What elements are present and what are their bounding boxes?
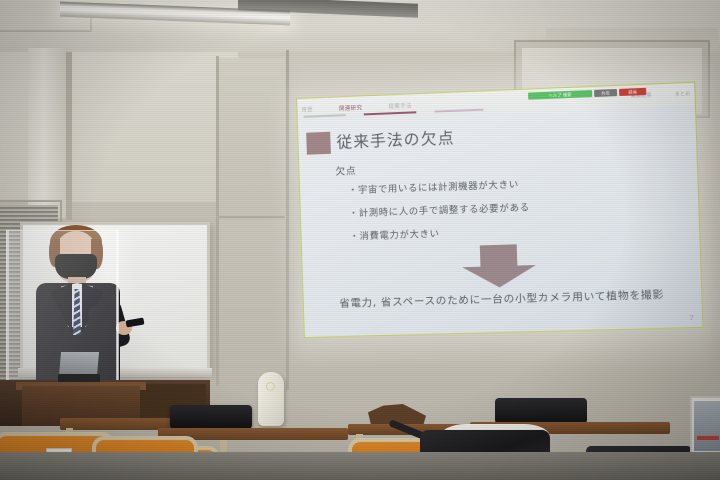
wall-panel-upper	[219, 58, 285, 218]
down-arrow-icon	[460, 244, 537, 289]
wall-seam-right	[286, 50, 289, 390]
slide-surface: 背景 関連研究 提案手法 実験結果 まとめ ヘルプ 検索 共有 録画	[296, 82, 704, 338]
slide-conclusion: 省電力, 省スペースのために一台の小型カメラ用いて植物を撮影	[304, 285, 702, 311]
record-badge[interactable]: 録画	[619, 88, 646, 96]
wall-column	[28, 48, 68, 218]
nav-right-1: まとめ	[674, 90, 690, 98]
monitor-screen-indicator	[697, 436, 719, 440]
slide-page-number: 7	[689, 314, 694, 322]
slide-title: 従来手法の欠点	[336, 126, 455, 153]
nav-tab-0[interactable]: 背景	[301, 105, 313, 113]
speaker-indicator-ring	[266, 382, 275, 391]
conference-speaker-device	[258, 372, 284, 426]
slide-bullet: 宇宙で用いるには計測機器が大きい	[348, 176, 529, 196]
wall-panel-lower	[219, 220, 285, 385]
nav-tab-2[interactable]: 提案手法	[388, 101, 412, 110]
laptop-screen	[59, 352, 99, 376]
badge-row: ヘルプ 検索 共有 録画	[528, 88, 646, 100]
nav-tab-1[interactable]: 関連研究	[339, 103, 363, 112]
partition-post-left	[6, 230, 9, 392]
share-badge[interactable]: 共有	[594, 89, 617, 97]
floor	[0, 452, 720, 480]
slide-bullet: 計測時に人の手で調整する必要がある	[349, 199, 530, 219]
help-search-badge[interactable]: ヘルプ 検索	[528, 90, 592, 100]
partition-post-right	[116, 230, 119, 392]
wall-column-edge	[66, 52, 72, 220]
slide-bullet-list: 宇宙で用いるには計測機器が大きい 計測時に人の手で調整する必要がある 消費電力が…	[348, 176, 531, 243]
projector-device	[170, 405, 252, 429]
lecture-room-photo: 背景 関連研究 提案手法 実験結果 まとめ ヘルプ 検索 共有 録画	[0, 0, 720, 480]
slide-lead: 欠点	[335, 163, 356, 178]
slide-bullet: 消費電力が大きい	[349, 223, 530, 243]
ceiling-panel-line	[0, 30, 92, 32]
arrow-stem	[480, 244, 518, 267]
projected-slide: 背景 関連研究 提案手法 実験結果 まとめ ヘルプ 検索 共有 録画	[296, 82, 704, 338]
arrow-head	[462, 265, 536, 288]
projector-device-secondary	[495, 398, 587, 424]
title-accent-block	[306, 132, 331, 155]
monitor-screen	[694, 401, 720, 451]
